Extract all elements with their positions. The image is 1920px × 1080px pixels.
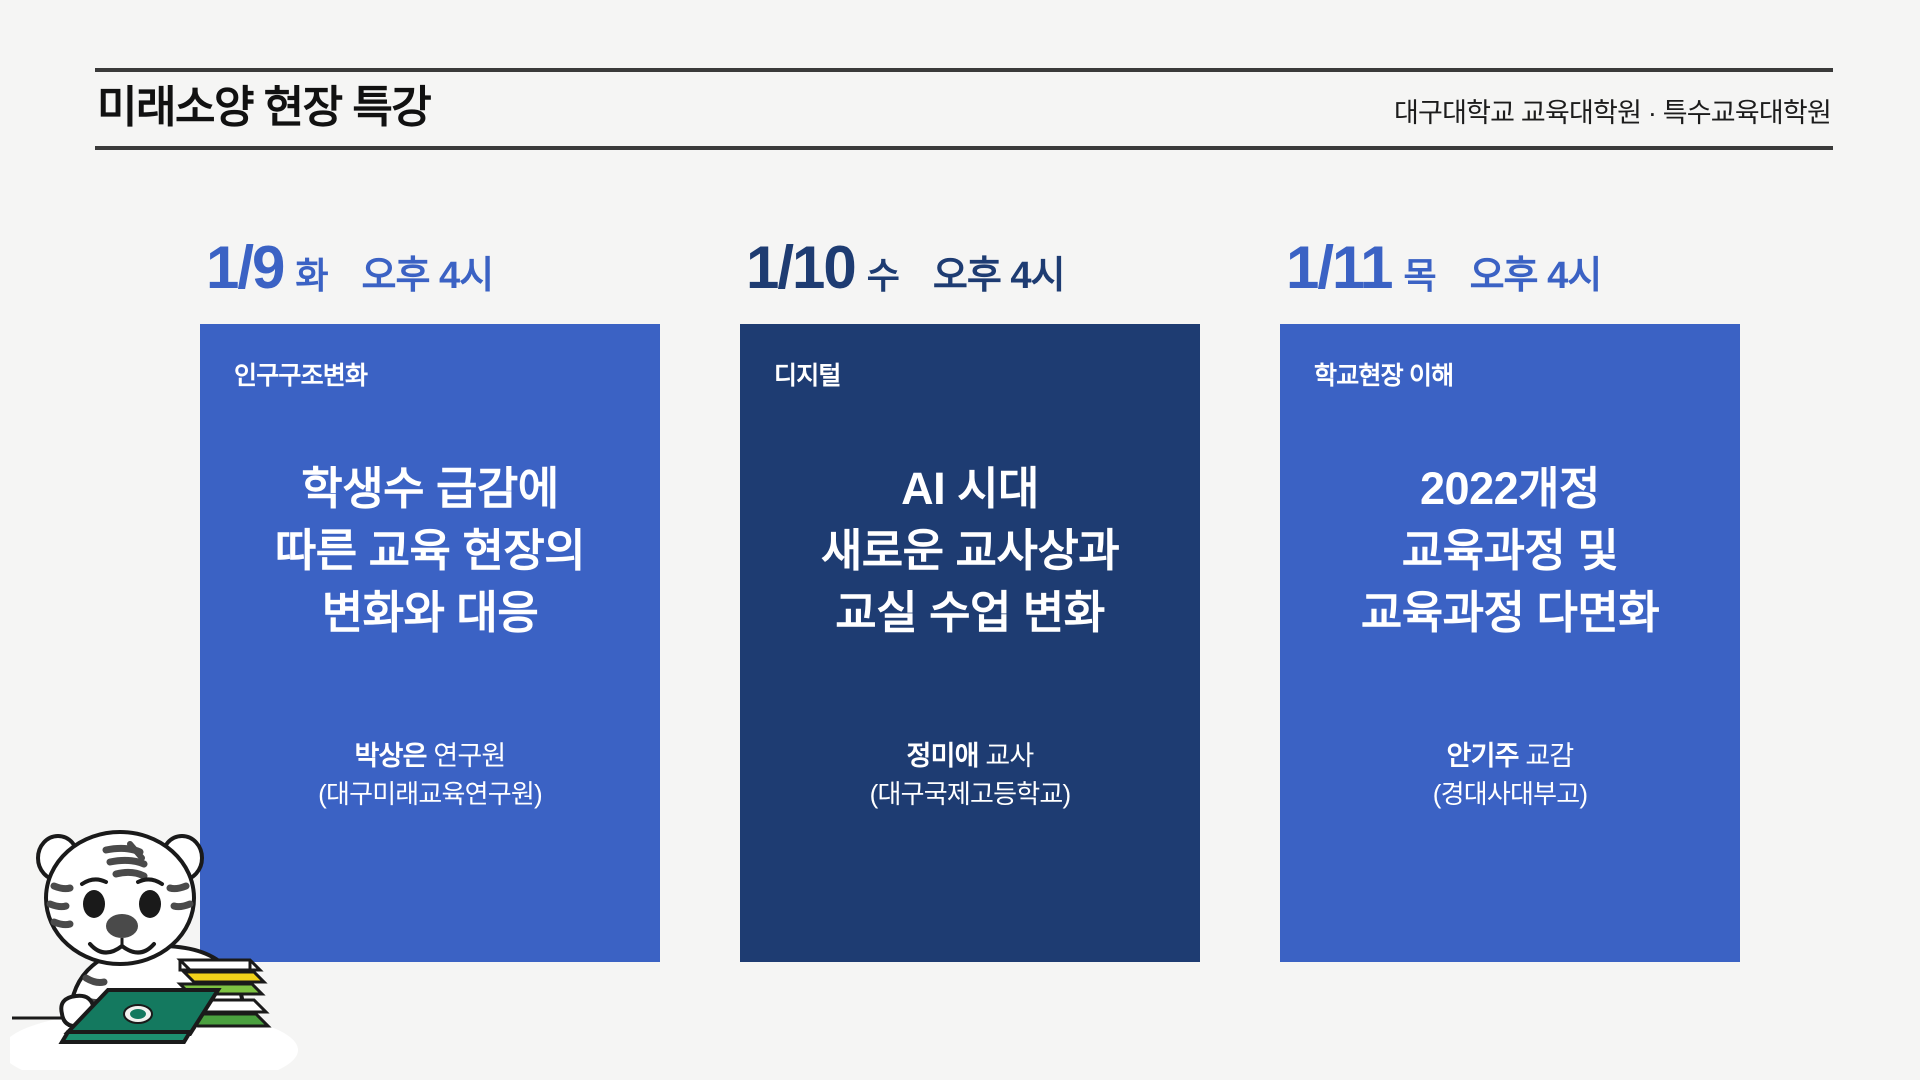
card-title-line: 교실 수업 변화 — [835, 582, 1104, 644]
card-date-header: 1/10 수 오후 4시 — [740, 238, 1200, 324]
card-title: AI 시대 새로운 교사상과 교실 수업 변화 — [766, 365, 1174, 737]
card-weekday: 화 — [295, 258, 327, 294]
card-title: 2022개정 교육과정 및 교육과정 다면화 — [1306, 365, 1714, 737]
card-title-line: 2022개정 — [1420, 458, 1600, 520]
speaker-line: 박상은 연구원 — [226, 737, 634, 776]
speaker-affiliation: (대구국제고등학교) — [766, 776, 1174, 814]
speaker-role: 연구원 — [433, 741, 505, 771]
card-panel: 디지털 AI 시대 새로운 교사상과 교실 수업 변화 정미애 교사 (대구국제… — [740, 324, 1200, 962]
header-rule-bottom — [95, 146, 1833, 150]
card-date-number: 1/11 — [1286, 238, 1391, 298]
card-panel: 학교현장 이해 2022개정 교육과정 및 교육과정 다면화 안기주 교감 (경… — [1280, 324, 1740, 962]
card-title: 학생수 급감에 따른 교육 현장의 변화와 대응 — [226, 365, 634, 737]
speaker-line: 안기주 교감 — [1306, 737, 1714, 776]
organization-label: 대구대학교 교육대학원 · 특수교육대학원 — [1394, 100, 1831, 127]
card-time: 오후 4시 — [362, 257, 494, 295]
tiger-mascot-icon — [10, 800, 310, 1070]
card-date-header: 1/11 목 오후 4시 — [1280, 238, 1740, 324]
card-date-header: 1/9 화 오후 4시 — [200, 238, 660, 324]
card-weekday: 목 — [1403, 258, 1435, 294]
card-title-line: 변화와 대응 — [322, 582, 539, 644]
speaker-affiliation: (경대사대부고) — [1306, 776, 1714, 814]
page-title: 미래소양 현장 특강 — [97, 86, 430, 130]
lecture-card[interactable]: 1/10 수 오후 4시 디지털 AI 시대 새로운 교사상과 교실 수업 변화… — [740, 238, 1200, 962]
card-title-line: AI 시대 — [901, 458, 1039, 520]
card-title-line: 따른 교육 현장의 — [275, 520, 585, 582]
poster-canvas: 미래소양 현장 특강 대구대학교 교육대학원 · 특수교육대학원 1/9 화 오… — [0, 0, 1920, 1080]
card-time: 오후 4시 — [933, 257, 1065, 295]
speaker-role: 교감 — [1525, 741, 1573, 771]
card-date-number: 1/9 — [206, 238, 283, 298]
card-speaker: 정미애 교사 (대구국제고등학교) — [766, 737, 1174, 932]
card-speaker: 안기주 교감 (경대사대부고) — [1306, 737, 1714, 932]
tiger-mascot-illustration — [10, 800, 310, 1070]
speaker-name: 정미애 — [907, 741, 979, 771]
card-date-number: 1/10 — [746, 238, 855, 298]
lecture-card-list: 1/9 화 오후 4시 인구구조변화 학생수 급감에 따른 교육 현장의 변화와… — [200, 238, 1740, 962]
card-weekday: 수 — [867, 258, 899, 294]
speaker-name: 안기주 — [1447, 741, 1519, 771]
speaker-role: 교사 — [985, 741, 1033, 771]
header-row: 미래소양 현장 특강 대구대학교 교육대학원 · 특수교육대학원 — [95, 72, 1833, 146]
speaker-name: 박상은 — [355, 741, 427, 771]
poster-header: 미래소양 현장 특강 대구대학교 교육대학원 · 특수교육대학원 — [95, 68, 1833, 150]
speaker-line: 정미애 교사 — [766, 737, 1174, 776]
card-title-line: 새로운 교사상과 — [821, 520, 1119, 582]
card-title-line: 교육과정 및 — [1402, 520, 1619, 582]
card-title-line: 교육과정 다면화 — [1361, 582, 1659, 644]
card-title-line: 학생수 급감에 — [301, 458, 558, 520]
lecture-card[interactable]: 1/11 목 오후 4시 학교현장 이해 2022개정 교육과정 및 교육과정 … — [1280, 238, 1740, 962]
card-time: 오후 4시 — [1470, 257, 1602, 295]
